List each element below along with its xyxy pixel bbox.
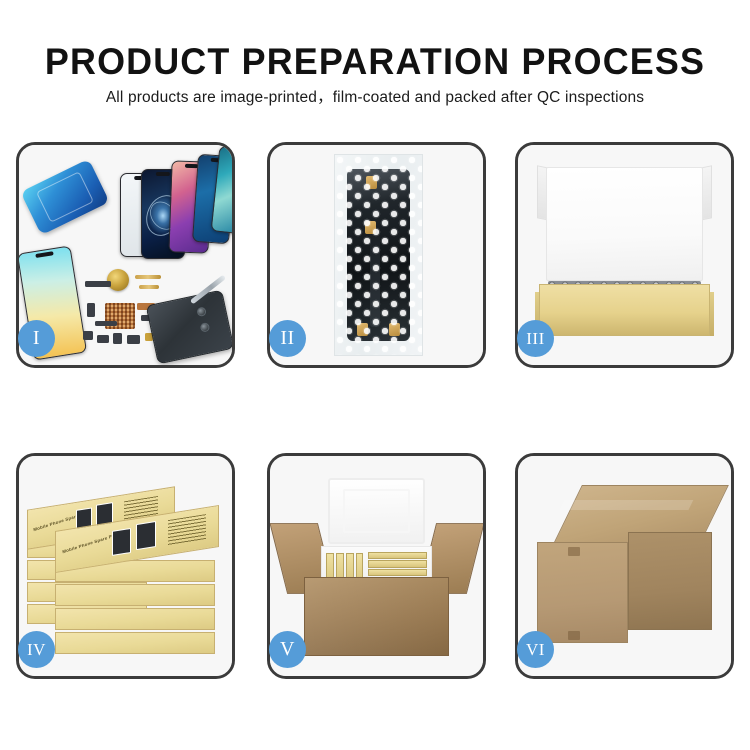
stacked-box — [55, 608, 215, 630]
carton-tape-patch — [568, 631, 580, 640]
flex-cable-part — [139, 285, 159, 289]
box-label-spec-lines — [168, 514, 206, 546]
step-panel-1: I — [16, 142, 235, 368]
process-step-grid: I II — [0, 0, 750, 750]
bubble-texture — [335, 155, 422, 355]
step-badge-4: IV — [18, 631, 55, 668]
camera-lens-icon — [200, 322, 211, 333]
stacked-box — [55, 632, 215, 654]
step-badge-1: I — [18, 320, 55, 357]
white-foam-lid — [546, 167, 704, 281]
carton-front-face — [537, 542, 628, 643]
phone-notch-icon — [35, 251, 53, 258]
sealed-carton — [537, 485, 712, 643]
step-panel-5: V — [267, 453, 486, 679]
component-part — [113, 333, 122, 344]
camera-lens-icon — [196, 306, 207, 317]
bubble-wrap-bag — [334, 154, 423, 356]
step-badge-2: II — [269, 320, 306, 357]
carton-tape-patch — [568, 547, 580, 556]
product-preparation-infographic: PRODUCT PREPARATION PROCESS All products… — [0, 0, 750, 750]
component-part — [95, 321, 117, 326]
step-panel-4: Mobile Phone Spare Parts — [16, 453, 235, 679]
flex-cable-part — [135, 275, 161, 279]
phone-notch-icon — [156, 172, 170, 176]
step-badge-3: III — [517, 320, 554, 357]
adhesive-sheet — [20, 159, 109, 235]
component-part — [85, 281, 111, 287]
box-label-phone-image — [112, 528, 131, 556]
stacked-box — [55, 584, 215, 606]
carton-body — [304, 577, 449, 656]
component-part — [97, 335, 109, 343]
phone-notch-icon — [185, 164, 198, 168]
inner-box-slab — [368, 552, 427, 559]
phone-back-housing — [146, 290, 232, 365]
step-panel-2: II — [267, 142, 486, 368]
inner-box-slab — [368, 569, 427, 576]
component-part — [83, 331, 93, 340]
carton-seam-tape — [559, 500, 693, 510]
carton-side-face — [628, 532, 712, 630]
step-badge-6: VI — [517, 631, 554, 668]
inner-box-slab — [368, 560, 427, 567]
box-label-phone-image — [136, 521, 156, 550]
foam-lid-open — [328, 478, 426, 544]
vibration-motor-part — [107, 269, 129, 291]
step-panel-6: VI — [515, 453, 734, 679]
component-part — [127, 335, 140, 344]
kraft-box-tray — [539, 284, 709, 337]
component-part — [87, 303, 95, 317]
step-panel-3: III — [515, 142, 734, 368]
step-badge-5: V — [269, 631, 306, 668]
